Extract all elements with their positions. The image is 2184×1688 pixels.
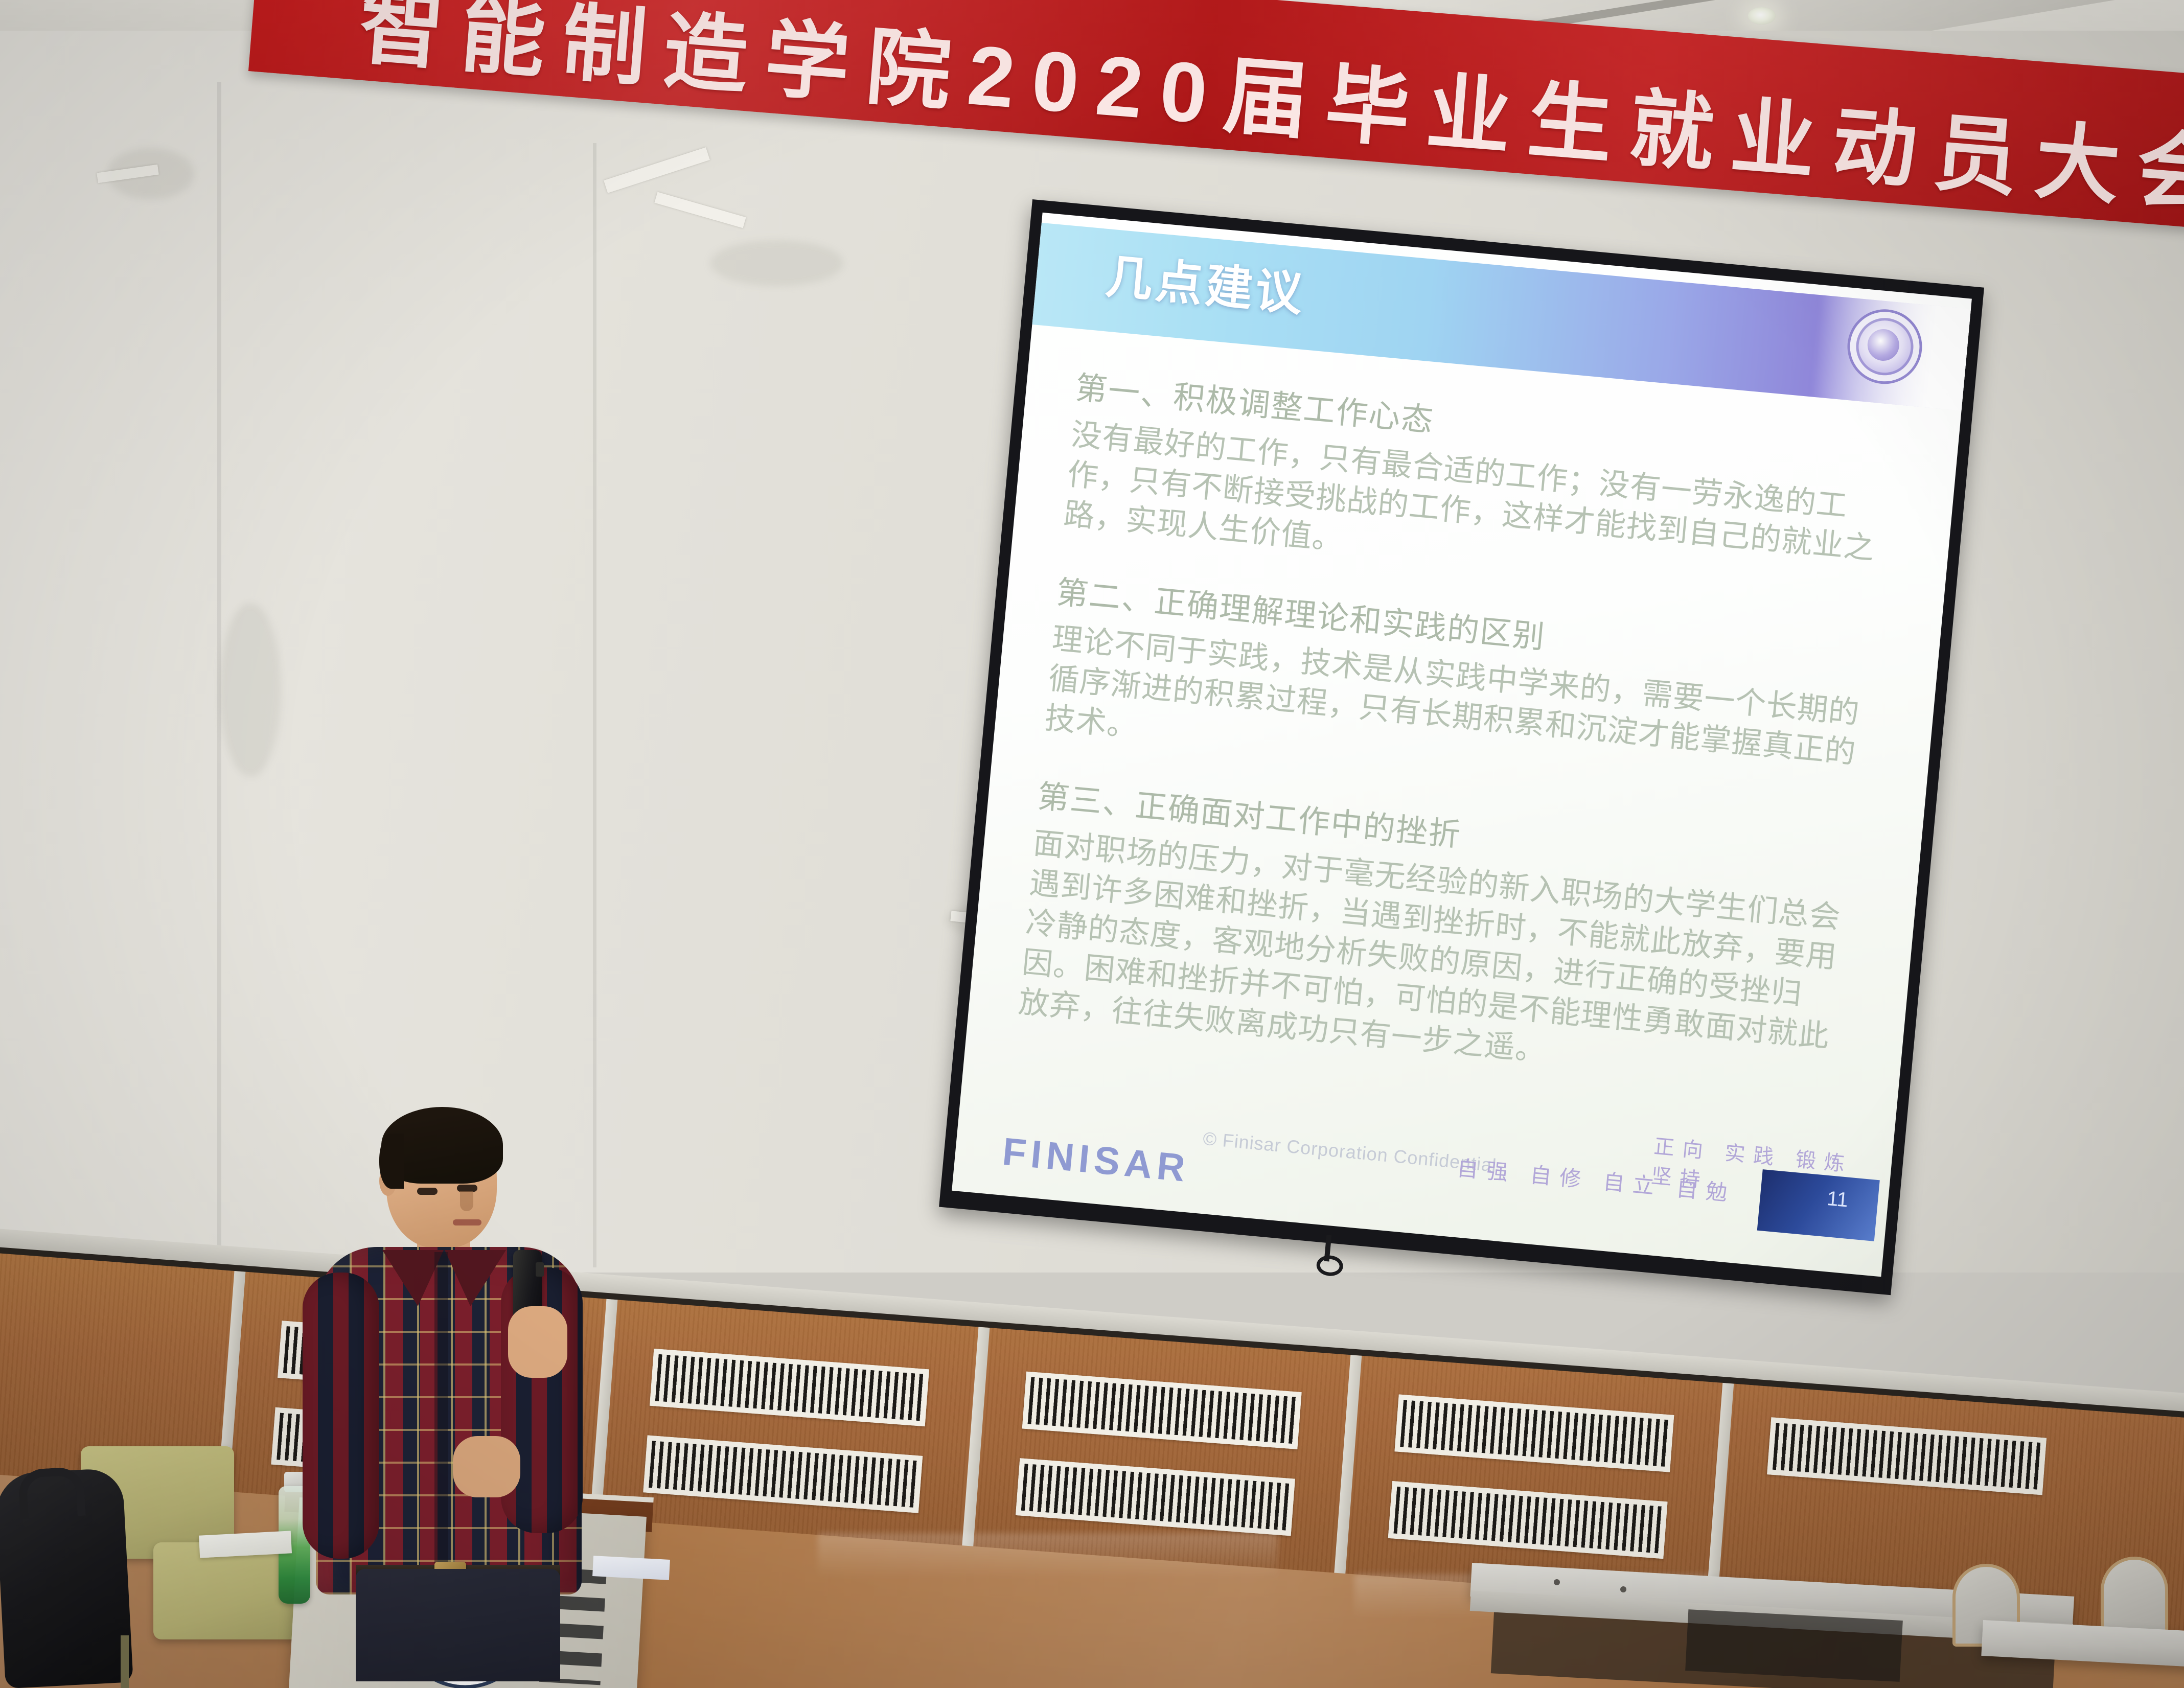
confidential-notice: © Finisar Corporation Confidential [1202,1128,1498,1176]
chair-leg [121,1635,129,1688]
hair [381,1107,503,1184]
arm-left [303,1273,379,1559]
backpack-strap [18,1467,86,1519]
screen-surface: 几点建议 第一、积极调整工作心态 没有最好的工作，只有最合适的工作；没有一劳永逸… [952,213,1972,1277]
eye-left [417,1188,438,1195]
ceiling-light-center [1748,7,1776,25]
hand-right [508,1306,567,1378]
nose [460,1191,473,1211]
paper-sheet-right [592,1556,670,1580]
shirt-placket [434,1252,448,1579]
slide-number-plate [1757,1169,1880,1241]
slide-paragraph-1: 第一、积极调整工作心态 没有最好的工作，只有最合适的工作；没有一劳永逸的工作，只… [1062,369,1909,611]
slide-body: 第一、积极调整工作心态 没有最好的工作，只有最合适的工作；没有一劳永逸的工作，只… [963,340,1960,1159]
projection-screen: 几点建议 第一、积极调整工作心态 没有最好的工作，只有最合适的工作；没有一劳永逸… [939,199,1984,1295]
slide-number: 11 [1826,1187,1849,1212]
desk-screw-2 [1620,1586,1626,1592]
desk-gap-shadow [1685,1609,1903,1682]
finisar-wordmark: FINISAR [1001,1129,1191,1191]
presenter [307,1099,593,1640]
mouth [453,1219,481,1225]
slide-paragraph-2: 第二、正确理解理论和实践的区别 理论不同于实践，技术是从实践中学来的，需要一个长… [1043,573,1890,815]
black-backpack [0,1468,133,1688]
floor-reflection-a [818,1533,1278,1579]
wall-smudge-b [710,240,843,286]
slide-paragraph-3: 第三、正确面对工作中的挫折 面对职场的压力，对于毫无经验的新入职场的大学生们总会… [1017,777,1871,1099]
wall-smudge-d [220,603,281,777]
wall-seam-mid [593,143,596,1267]
paper-stack [199,1531,292,1558]
lecture-hall-photo: 智能制造学院2020届毕业生就业动员大会 几点建议 第一、积极调整工作心态 没有… [0,0,2184,1688]
trousers [356,1569,560,1681]
desk-screw-1 [1554,1579,1560,1585]
hand-left [453,1436,520,1497]
